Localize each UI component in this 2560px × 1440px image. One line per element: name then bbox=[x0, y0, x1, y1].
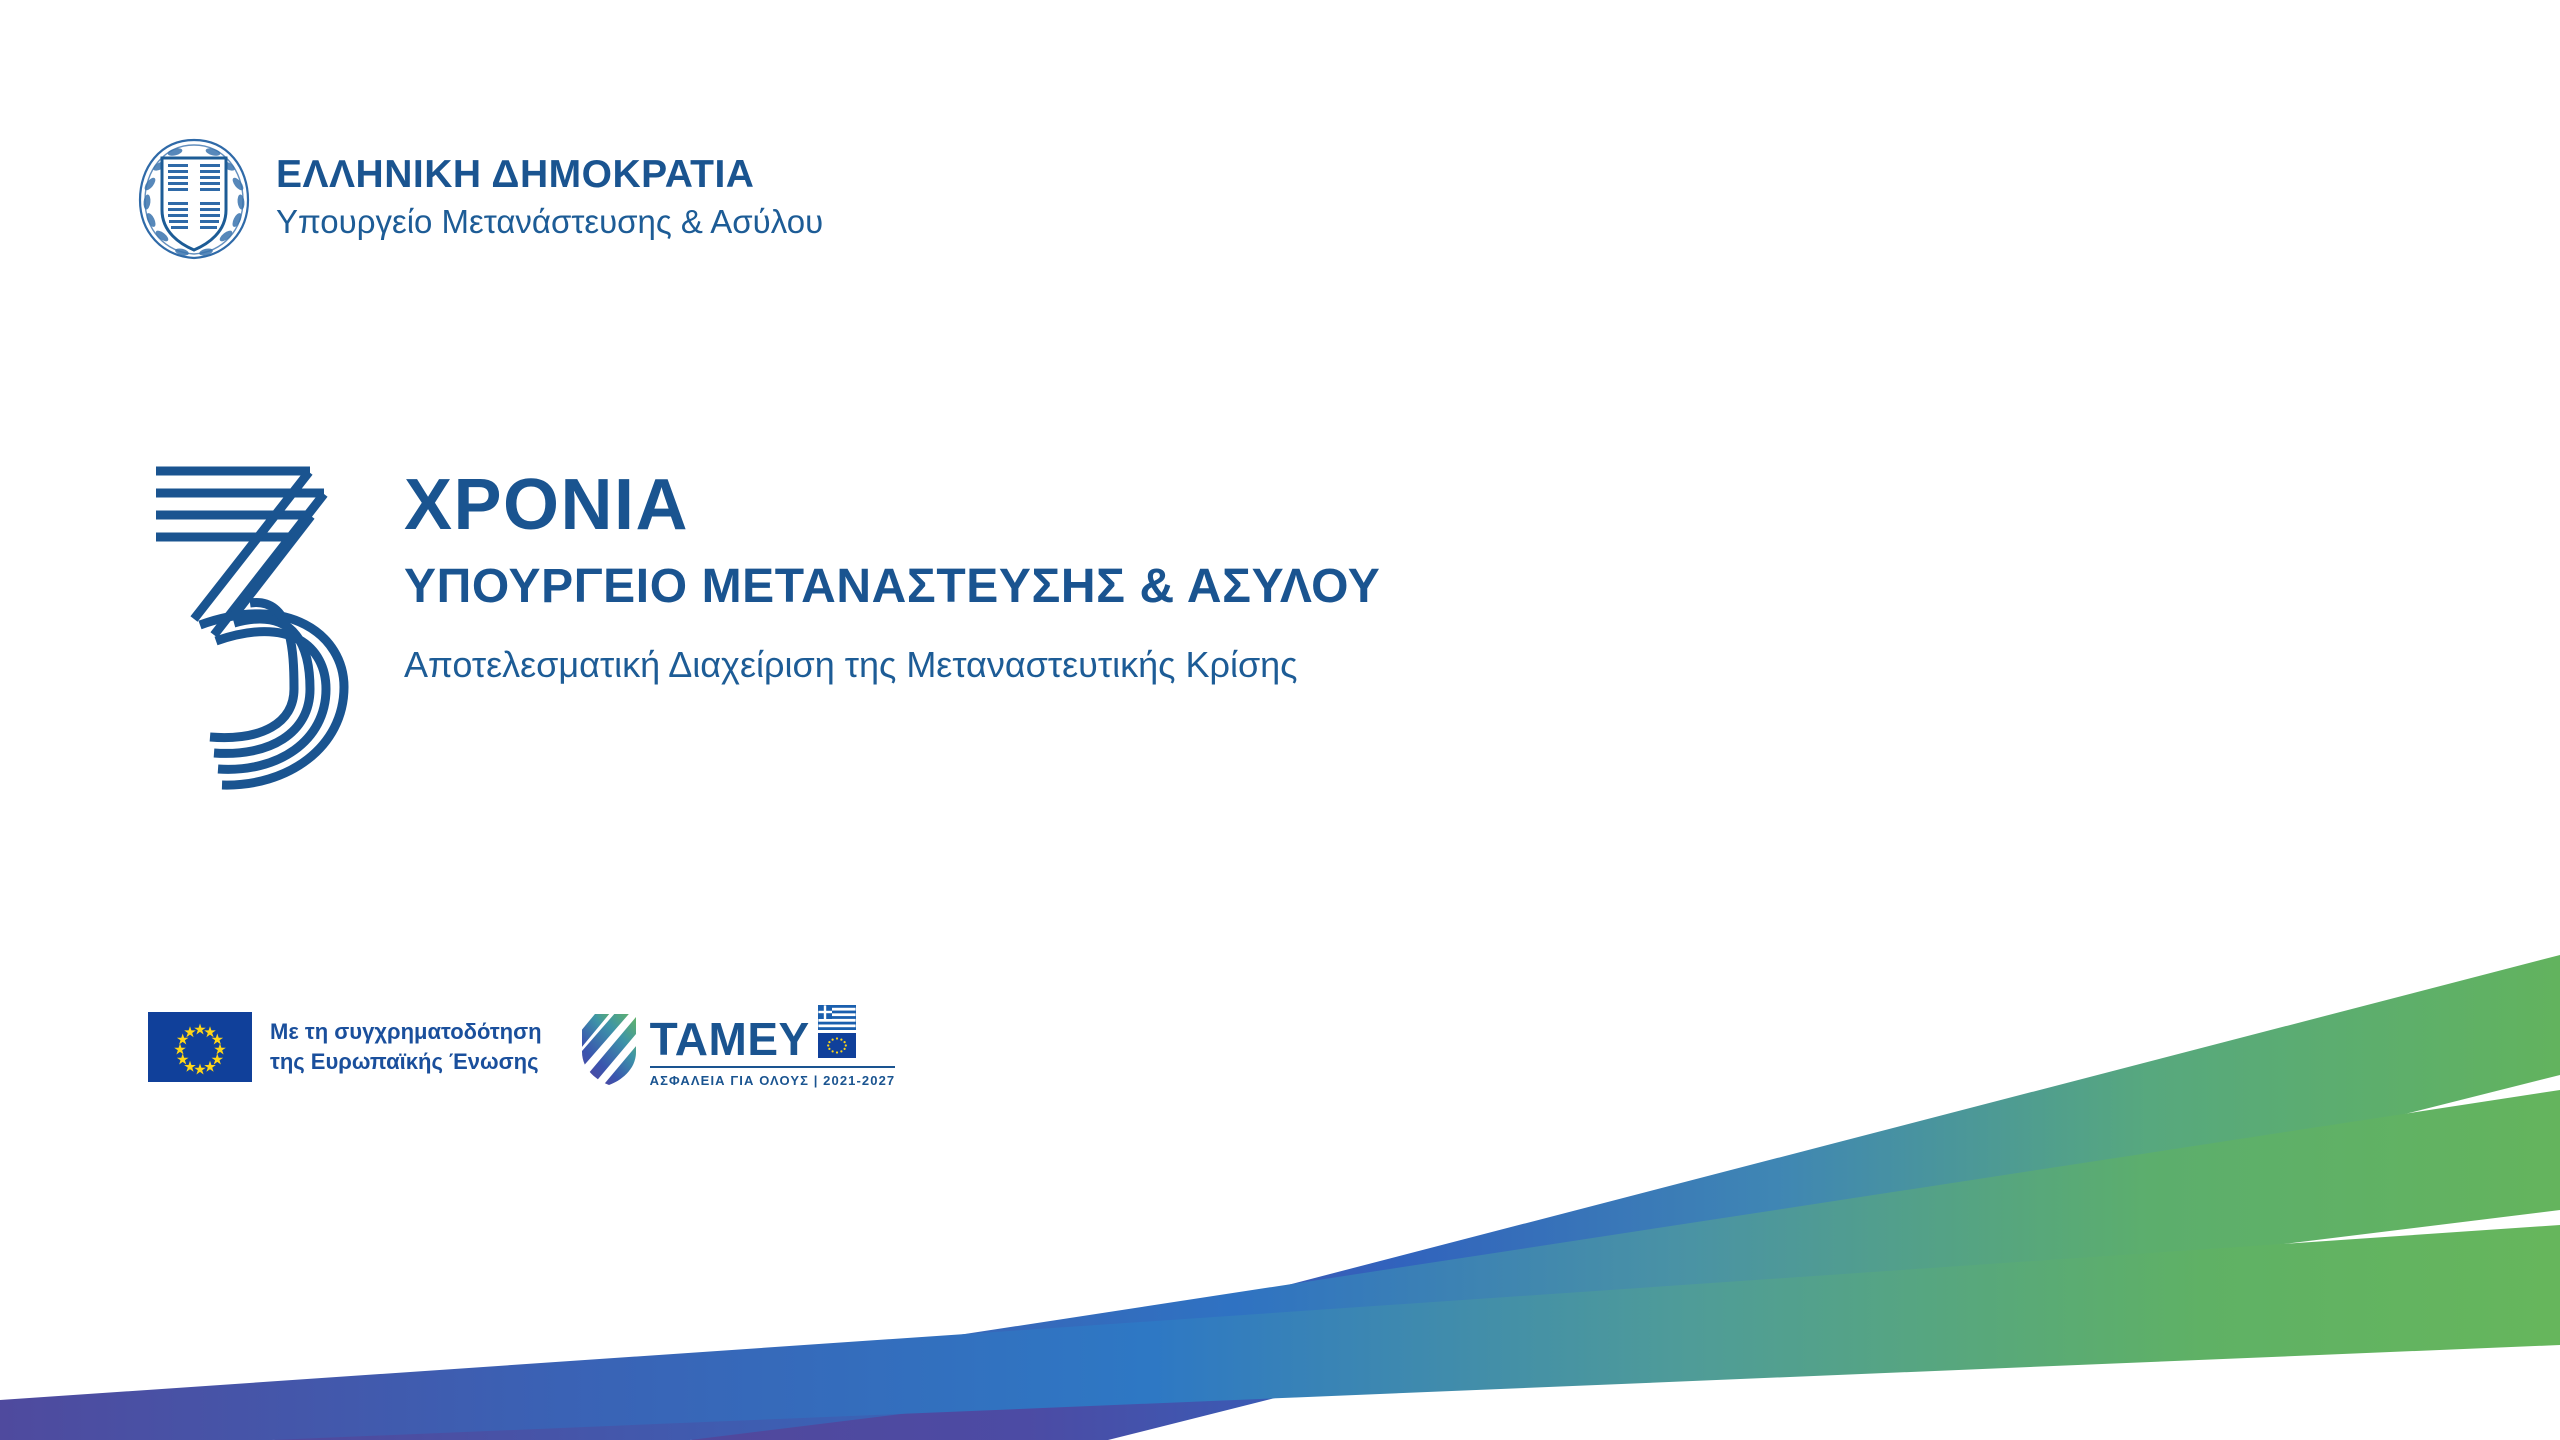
numeral-three-icon bbox=[128, 455, 368, 795]
page-title: ΕΛΛΗΝΙΚΗ ΔΗΜΟΚΡΑΤΙΑ bbox=[276, 154, 823, 196]
anniversary-years-label: ΧΡΟΝΙΑ bbox=[404, 469, 1380, 541]
tameu-logo: ΤΑΜΕΥ bbox=[578, 1005, 896, 1088]
header-lockup: ΕΛΛΗΝΙΚΗ ΔΗΜΟΚΡΑΤΙΑ Υπουργείο Μετανάστευ… bbox=[134, 132, 823, 264]
tameu-flags bbox=[818, 1005, 856, 1060]
page-subtitle: Υπουργείο Μετανάστευσης & Ασύλου bbox=[276, 202, 823, 242]
anniversary-ministry-label: ΥΠΟΥΡΓΕΙΟ ΜΕΤΑΝΑΣΤΕΥΣΗΣ & ΑΣΥΛΟΥ bbox=[404, 563, 1380, 611]
eu-cofunding-line2: της Ευρωπαϊκής Ένωσης bbox=[270, 1047, 542, 1077]
tameu-shield-icon bbox=[578, 1008, 640, 1086]
european-union-flag-icon bbox=[148, 1012, 252, 1082]
anniversary-tagline: Αποτελεσματική Διαχείριση της Μεταναστευ… bbox=[404, 643, 1380, 686]
anniversary-lockup: ΧΡΟΝΙΑ ΥΠΟΥΡΓΕΙΟ ΜΕΤΑΝΑΣΤΕΥΣΗΣ & ΑΣΥΛΟΥ … bbox=[128, 455, 1380, 795]
poster-canvas: ΕΛΛΗΝΙΚΗ ΔΗΜΟΚΡΑΤΙΑ Υπουργείο Μετανάστευ… bbox=[0, 0, 2560, 1440]
tameu-caption: ΑΣΦΑΛΕΙΑ ΓΙΑ ΟΛΟΥΣ | 2021-2027 bbox=[650, 1073, 896, 1088]
tameu-divider bbox=[650, 1066, 896, 1068]
funding-strip: Με τη συγχρηματοδότηση της Ευρωπαϊκής Έν… bbox=[148, 1005, 895, 1088]
ribbon-1 bbox=[690, 955, 2560, 1440]
greek-flag-icon bbox=[818, 1005, 856, 1030]
greek-coat-of-arms-icon bbox=[134, 132, 254, 264]
ribbon-2 bbox=[272, 1090, 2560, 1440]
eu-cofunding-line1: Με τη συγχρηματοδότηση bbox=[270, 1017, 542, 1047]
eu-cofunding-text: Με τη συγχρηματοδότηση της Ευρωπαϊκής Έν… bbox=[270, 1017, 542, 1076]
tameu-wordmark: ΤΑΜΕΥ bbox=[650, 1018, 810, 1060]
ribbon-3 bbox=[0, 1225, 2560, 1440]
eu-cofunding-block: Με τη συγχρηματοδότηση της Ευρωπαϊκής Έν… bbox=[148, 1012, 542, 1082]
european-union-flag-icon bbox=[818, 1033, 856, 1058]
